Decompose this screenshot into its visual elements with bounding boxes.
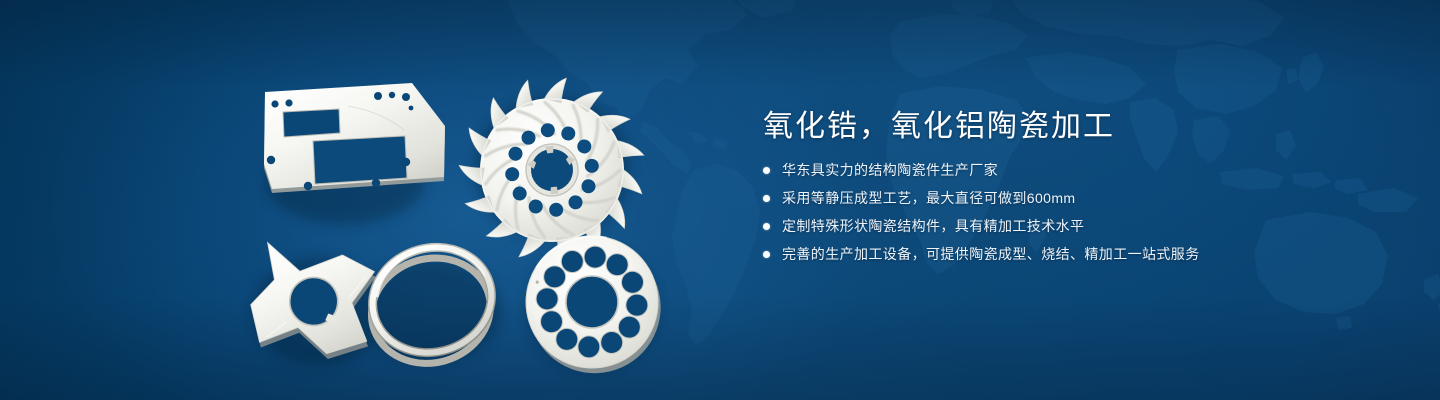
banner-feature-list: 华东具实力的结构陶瓷件生产厂家 采用等静压成型工艺，最大直径可做到600mm 定…	[763, 160, 1363, 264]
feature-text: 采用等静压成型工艺，最大直径可做到600mm	[782, 188, 1075, 208]
bullet-dot-icon	[763, 195, 770, 202]
bullet-dot-icon	[763, 167, 770, 174]
hero-banner: 氧化锆，氧化铝陶瓷加工 华东具实力的结构陶瓷件生产厂家 采用等静压成型工艺，最大…	[0, 0, 1440, 400]
bullet-dot-icon	[763, 223, 770, 230]
feature-text: 华东具实力的结构陶瓷件生产厂家	[782, 160, 998, 180]
feature-item: 华东具实力的结构陶瓷件生产厂家	[763, 160, 1363, 180]
feature-item: 完善的生产加工设备，可提供陶瓷成型、烧结、精加工一站式服务	[763, 244, 1363, 264]
feature-text: 完善的生产加工设备，可提供陶瓷成型、烧结、精加工一站式服务	[782, 244, 1200, 264]
bullet-dot-icon	[763, 251, 770, 258]
banner-copy: 氧化锆，氧化铝陶瓷加工 华东具实力的结构陶瓷件生产厂家 采用等静压成型工艺，最大…	[763, 108, 1363, 264]
feature-item: 采用等静压成型工艺，最大直径可做到600mm	[763, 188, 1363, 208]
feature-item: 定制特殊形状陶瓷结构件，具有精加工技术水平	[763, 216, 1363, 236]
feature-text: 定制特殊形状陶瓷结构件，具有精加工技术水平	[782, 216, 1084, 236]
banner-headline: 氧化锆，氧化铝陶瓷加工	[763, 108, 1363, 146]
